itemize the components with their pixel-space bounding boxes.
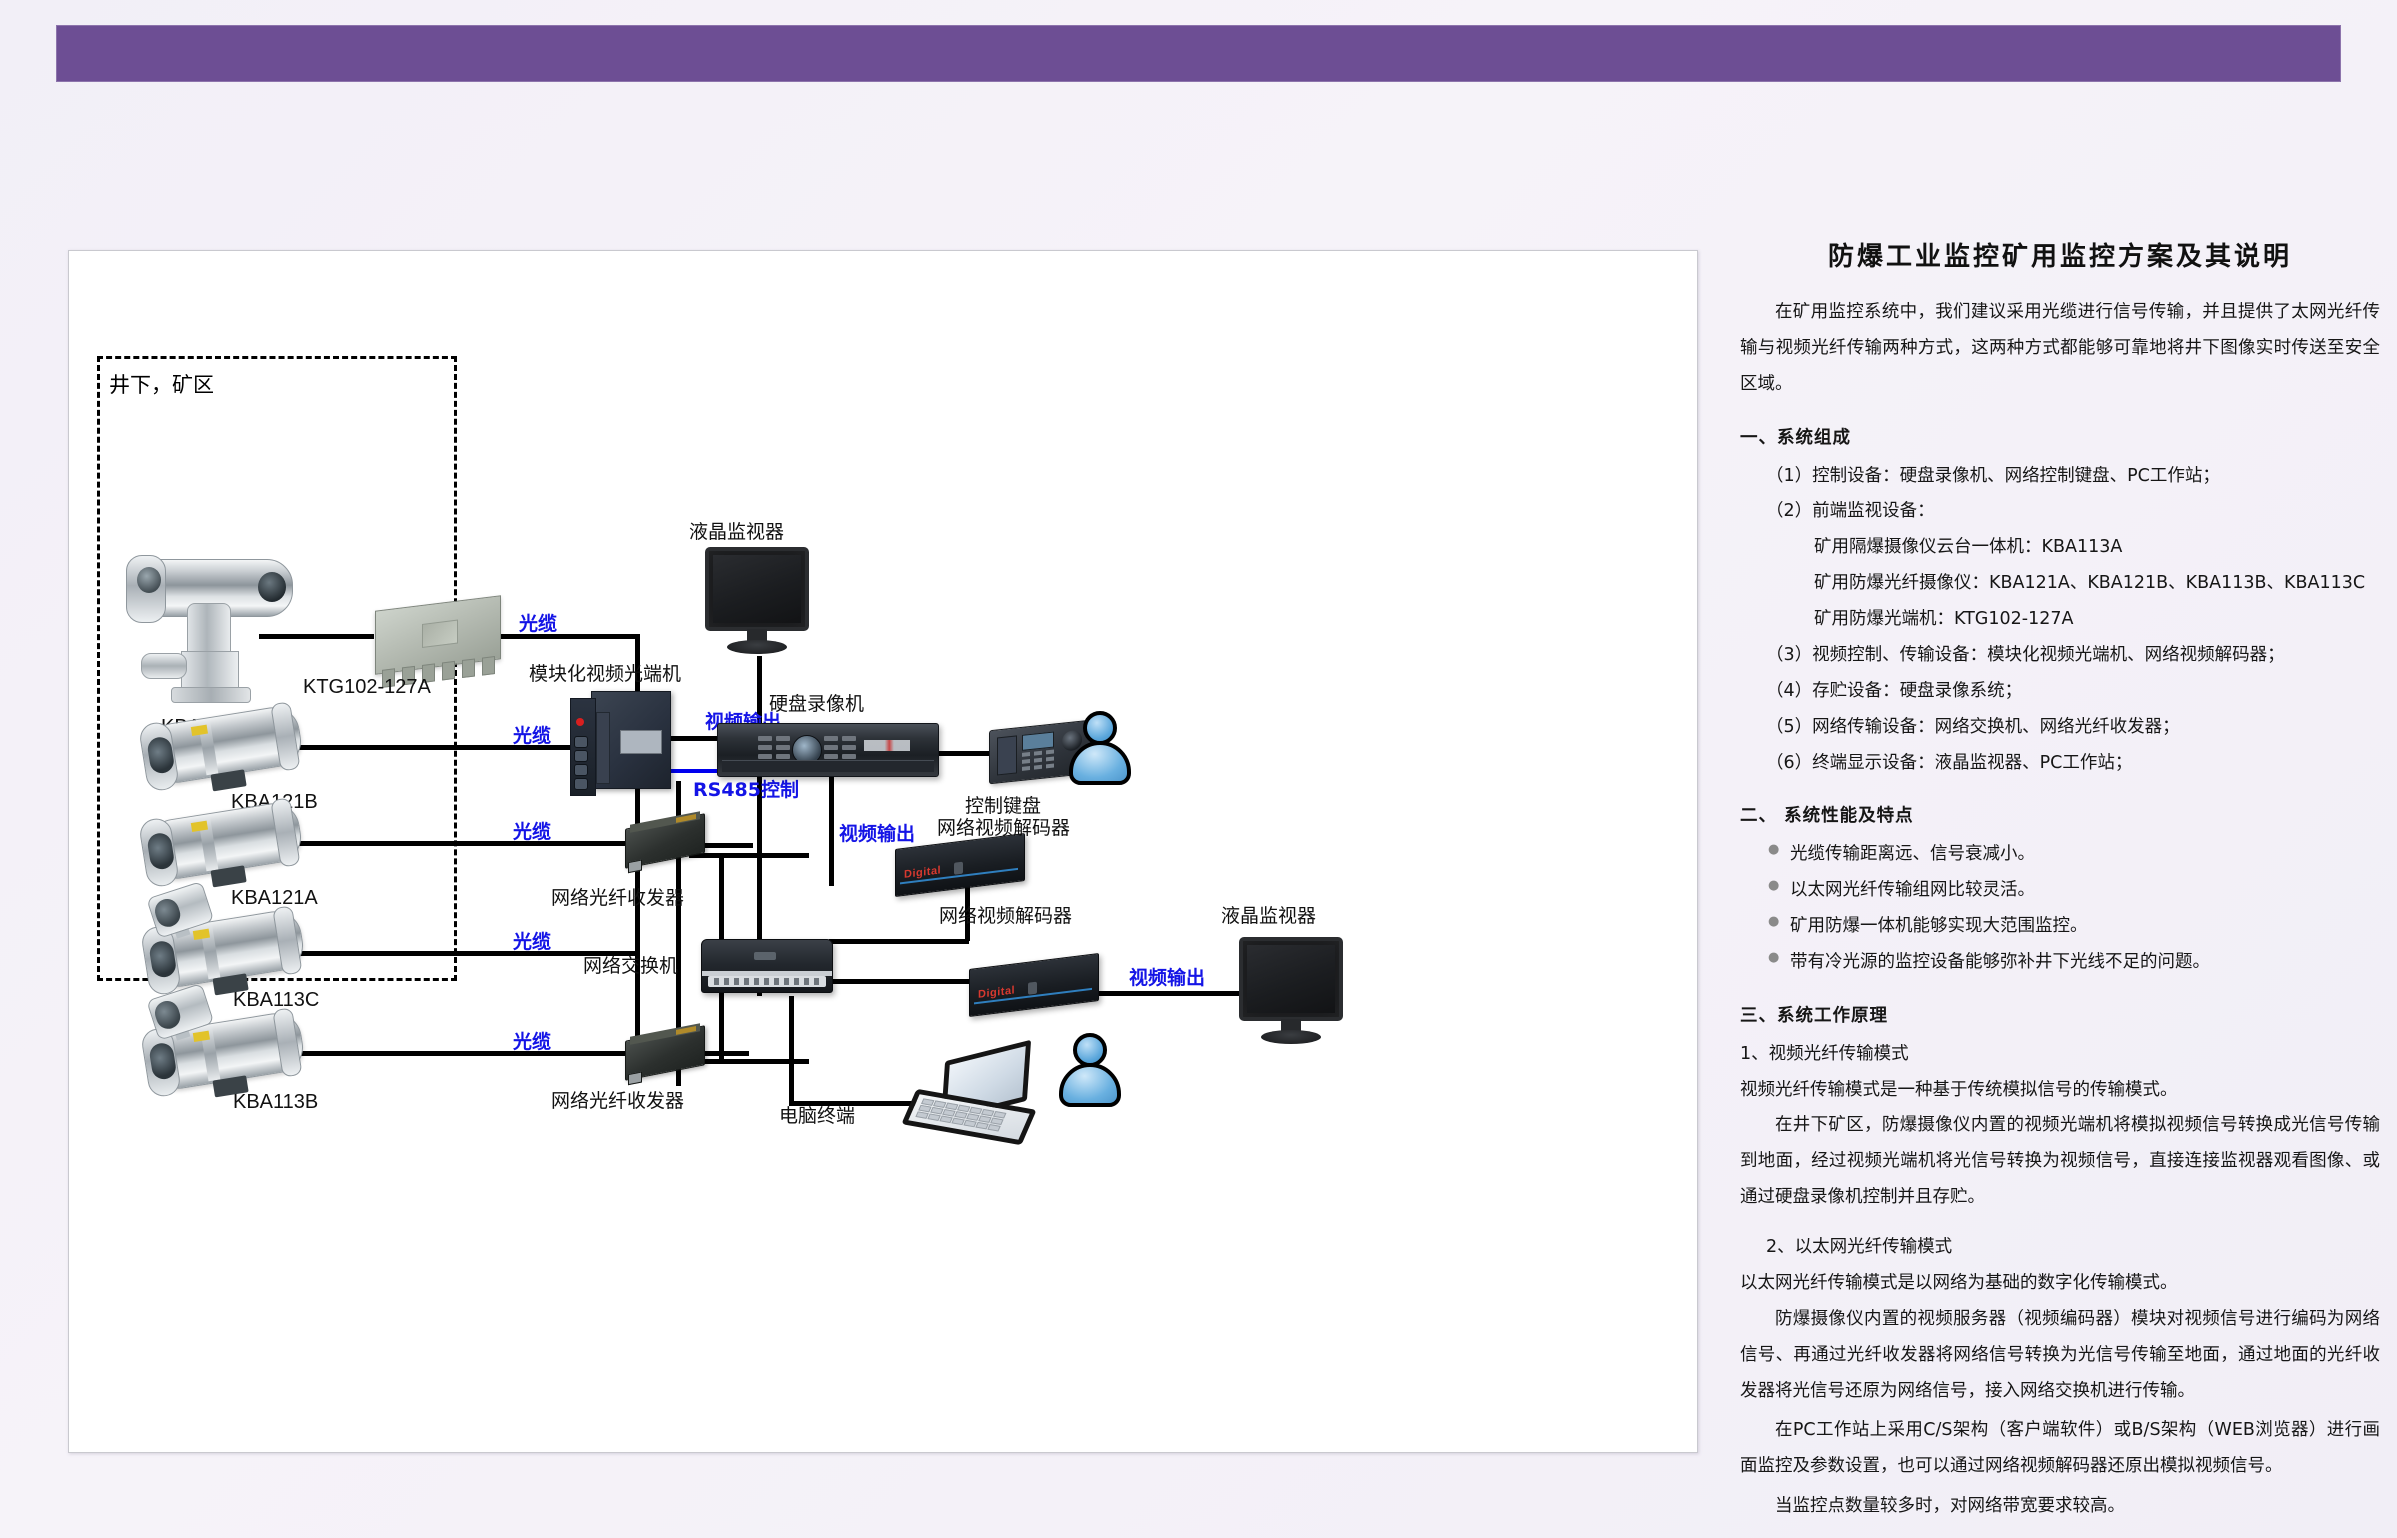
avatar-operator-bottom [1059,1033,1121,1107]
mode-2-line-1: 以太网光纤传输模式是以网络为基础的数字化传输模式。 [1740,1266,2380,1302]
mode-2-paragraph-2: 在PC工作站上采用C/S架构（客户端软件）或B/S架构（WEB浏览器）进行画面监… [1740,1413,2380,1485]
label-kba121a: KBA121A [231,887,318,910]
link-label-fiber-3: 光缆 [513,817,551,844]
section-2-bullet-2: 以太网光纤传输组网比较灵活。 [1740,873,2380,909]
label-kba113b: KBA113B [233,1091,318,1114]
wire-conv1-in [701,843,753,848]
device-network-video-decoder-lower: Digital [969,953,1099,1017]
header-bar [56,25,2341,82]
link-label-fiber-5: 光缆 [513,1027,551,1054]
label-network-switch: 网络交换机 [583,951,678,978]
section-2-bullet-4: 带有冷光源的监控设备能够弥补井下光线不足的问题。 [1740,945,2380,981]
section-3-heading: 三、系统工作原理 [1740,999,2380,1035]
wire-dvr-down-left [829,766,834,886]
label-dvr: 硬盘录像机 [769,689,864,716]
label-decoder-upper: 网络视频解码器 [937,813,1070,840]
section-2-bullet-3: 矿用防爆一体机能够实现大范围监控。 [1740,909,2380,945]
wire-switch-dec1 [829,939,969,944]
section-1-item-2: （2）前端监视设备： [1740,494,2380,530]
intro-paragraph: 在矿用监控系统中，我们建议采用光缆进行信号传输，并且提供了太网光纤传输与视频光纤… [1740,295,2380,403]
link-label-video-out-2: 视频输出 [839,819,915,846]
device-camera-kba113b [147,1009,307,1092]
device-modular-optical-transceiver [591,691,671,789]
section-1-item-1: （1）控制设备：硬盘录像机、网络控制键盘、PC工作站； [1740,459,2380,495]
device-dvr [717,723,939,777]
link-label-fiber-1: 光缆 [519,609,557,636]
label-kba113c: KBA113C [233,989,319,1012]
device-lcd-monitor-right [1239,937,1343,1045]
diagram-panel: 井下，矿区 KBA113A [68,250,1698,1453]
section-1-subitem-3: 矿用防爆光端机：KTG102-127A [1740,602,2380,638]
section-2-heading: 二、 系统性能及特点 [1740,799,2380,835]
label-ktg102: KTG102-127A [303,676,431,699]
wire-switch-down-conv2 [719,996,724,1064]
label-media-converter-lower: 网络光纤收发器 [551,1086,684,1113]
mode-2-heading: 2、以太网光纤传输模式 [1740,1230,2380,1266]
text-panel: 防爆工业监控矿用监控方案及其说明 在矿用监控系统中，我们建议采用光缆进行信号传输… [1740,236,2380,1529]
section-1-item-3: （3）视频控制、传输设备：模块化视频光端机、网络视频解码器； [1740,638,2380,674]
mode-2-paragraph-1: 防爆摄像仪内置的视频服务器（视频编码器）模块对视频信号进行编码为网络信号、再通过… [1740,1302,2380,1410]
section-1-subitem-2: 矿用防爆光纤摄像仪：KBA121A、KBA121B、KBA113B、KBA113… [1740,566,2380,602]
section-1-item-6: （6）终端显示设备：液晶监视器、PC工作站； [1740,746,2380,782]
label-lcd-monitor-right: 液晶监视器 [1221,901,1316,928]
wire-conv1-out [689,853,809,858]
avatar-operator-top [1069,711,1131,785]
section-1-subitem-1: 矿用隔爆摄像仪云台一体机：KBA113A [1740,530,2380,566]
link-label-fiber-2: 光缆 [513,721,551,748]
device-lcd-monitor-top [705,547,809,655]
section-1-heading: 一、系统组成 [1740,421,2380,457]
mode-1-line-1: 视频光纤传输模式是一种基于传统模拟信号的传输模式。 [1740,1073,2380,1109]
mode-1-paragraph: 在井下矿区，防爆摄像仪内置的视频光端机将模拟视频信号转换成光信号传输到地面，经过… [1740,1108,2380,1216]
wire-cam5 [269,1051,639,1056]
page-title: 防爆工业监控矿用监控方案及其说明 [1740,236,2380,273]
label-modular-optical-transceiver: 模块化视频光端机 [529,659,681,686]
label-decoder-lower: 网络视频解码器 [939,901,1072,928]
mode-1-heading: 1、视频光纤传输模式 [1740,1037,2380,1073]
label-lcd-monitor-top: 液晶监视器 [689,517,784,544]
label-media-converter-upper: 网络光纤收发器 [551,883,684,910]
link-label-video-out-3: 视频输出 [1129,963,1205,990]
label-pc-terminal: 电脑终端 [779,1101,855,1128]
link-label-fiber-4: 光缆 [513,927,551,954]
device-ptz-camera [131,541,291,706]
device-network-switch [701,939,833,993]
section-1-item-5: （5）网络传输设备：网络交换机、网络光纤收发器； [1740,710,2380,746]
mine-zone-label: 井下，矿区 [109,369,214,399]
mode-2-paragraph-3: 当监控点数量较多时，对网络带宽要求较高。 [1740,1489,2380,1525]
section-2-bullet-1: 光缆传输距离远、信号衰减小。 [1740,837,2380,873]
section-1-item-4: （4）存贮设备：硬盘录像系统； [1740,674,2380,710]
device-pc-terminal [909,1051,1039,1137]
wire-cam3 [269,841,639,846]
wire-dec2-monitor [1097,991,1247,996]
wire-switch-down-pc [789,996,794,1106]
link-label-rs485: RS485控制 [693,775,799,802]
